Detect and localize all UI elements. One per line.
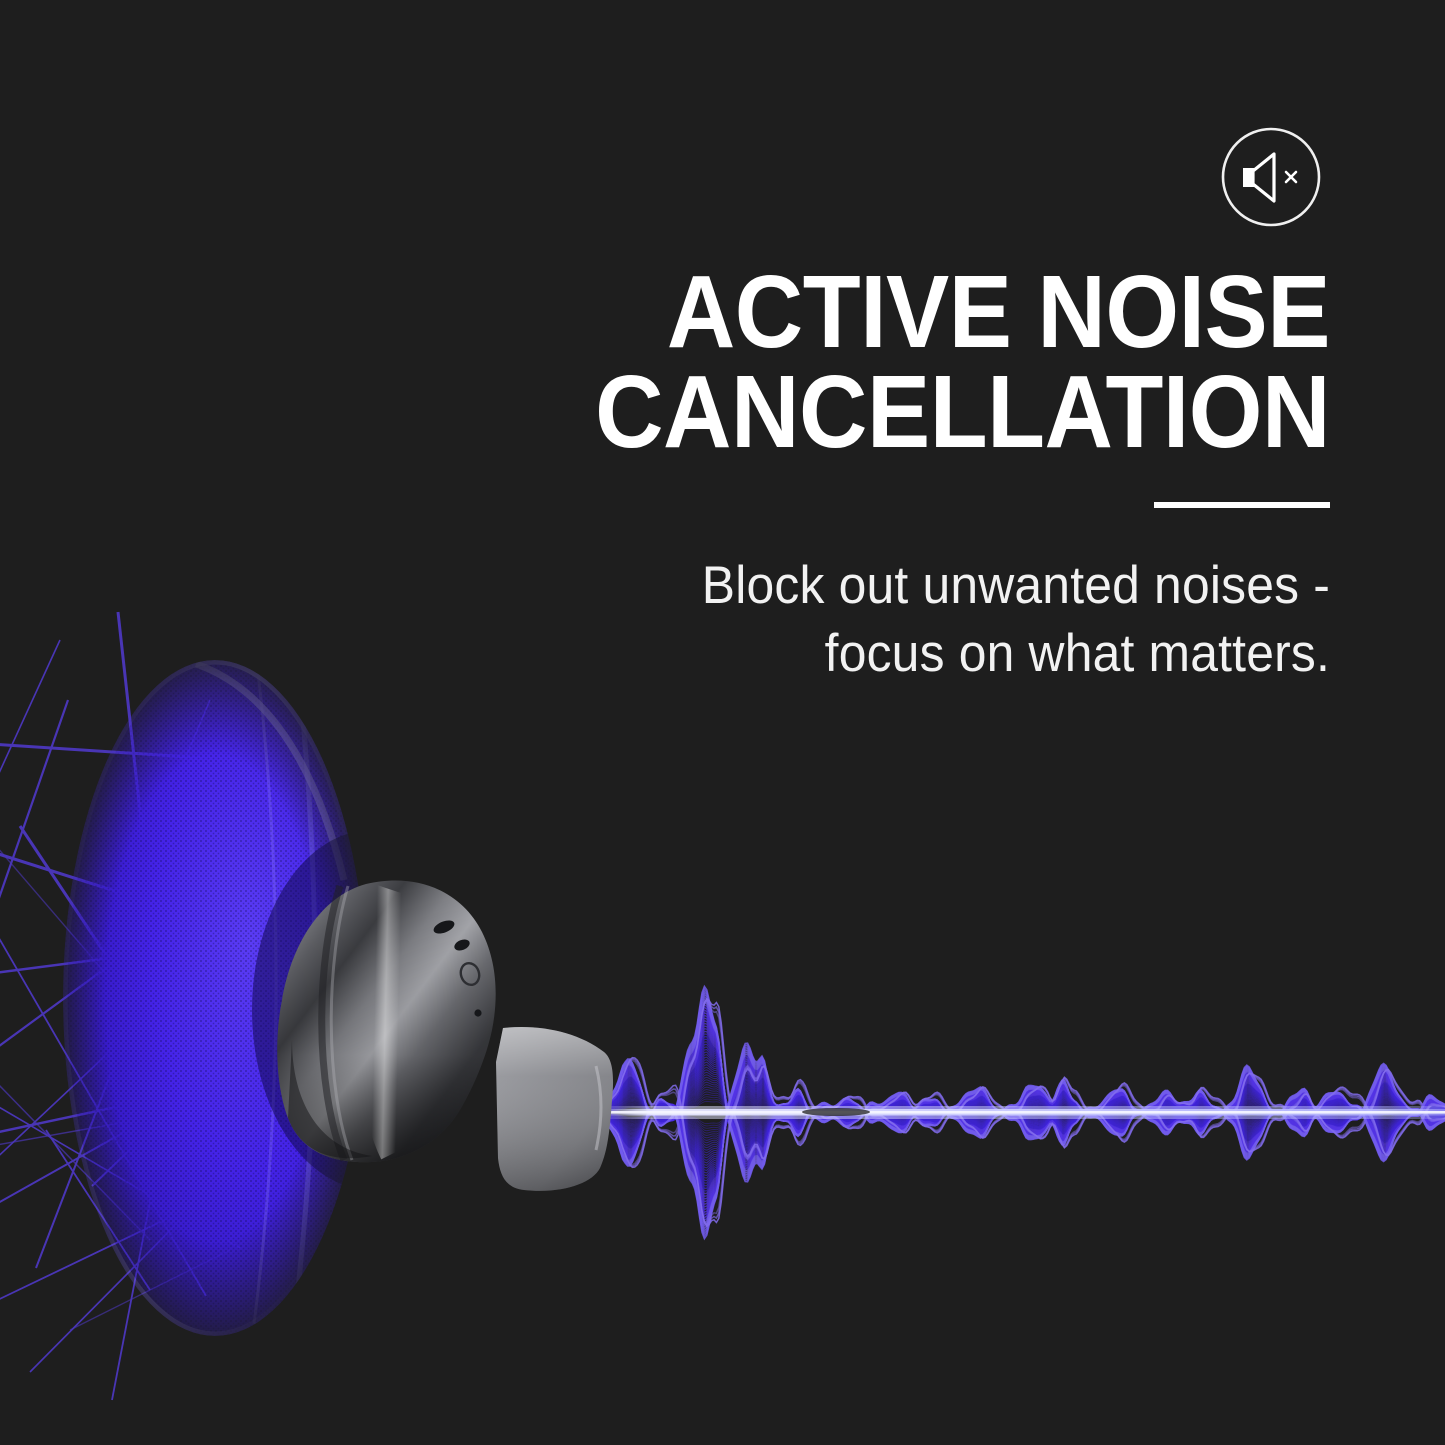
background-artwork bbox=[0, 0, 1445, 1445]
speaker-mute-badge[interactable] bbox=[1223, 129, 1319, 225]
title-divider bbox=[1154, 502, 1330, 508]
wireless-earbud bbox=[277, 881, 613, 1191]
page-title: ACTIVE NOISE CANCELLATION bbox=[410, 262, 1330, 462]
waveform-center-beam bbox=[604, 1106, 1445, 1119]
hero-copy: ACTIVE NOISE CANCELLATION Block out unwa… bbox=[330, 262, 1330, 687]
earbud-ear-tip bbox=[496, 1027, 613, 1191]
promo-banner: ACTIVE NOISE CANCELLATION Block out unwa… bbox=[0, 0, 1445, 1445]
title-divider-wrap bbox=[330, 502, 1330, 508]
page-subtitle: Block out unwanted noises - focus on wha… bbox=[390, 552, 1330, 688]
